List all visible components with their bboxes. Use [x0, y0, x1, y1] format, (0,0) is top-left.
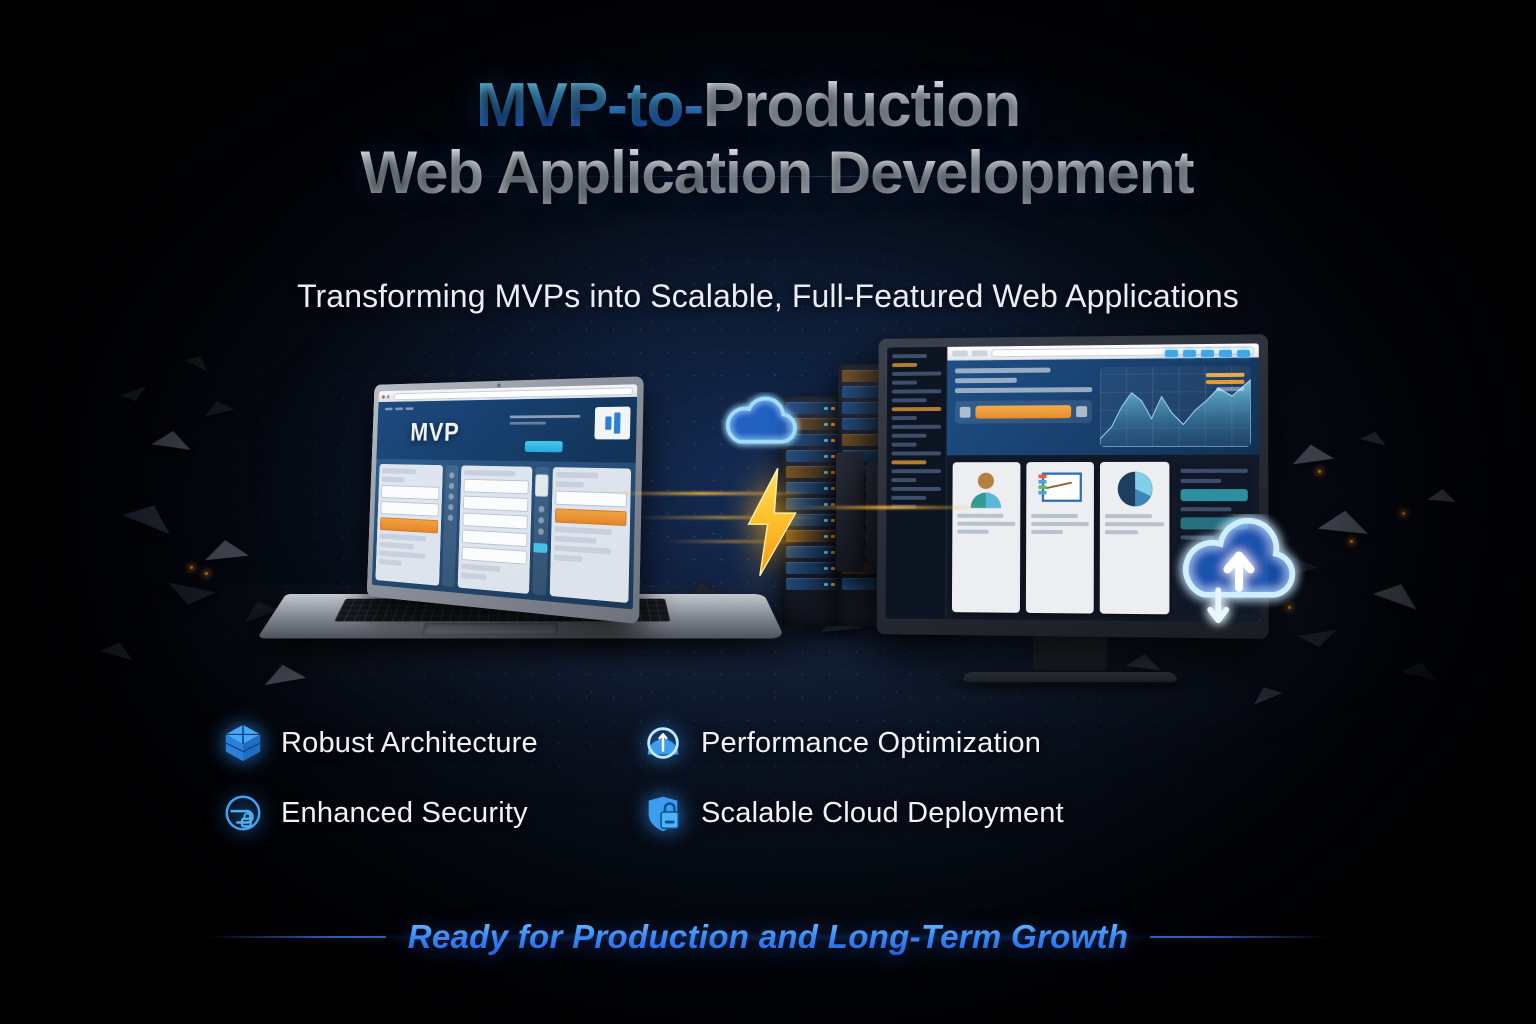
laptop-icon-rail[interactable] — [442, 465, 458, 587]
shield-lock-outline-icon — [222, 792, 264, 834]
dashboard-primary-button[interactable] — [975, 405, 1071, 418]
title-rest: Production — [703, 71, 1020, 140]
lightning-bolt-icon — [734, 466, 808, 578]
panel-icon — [1076, 406, 1087, 417]
browser-dot-icon — [387, 395, 390, 398]
laptop-card-column[interactable] — [375, 464, 443, 586]
feature-item-performance-optimization[interactable]: Performance Optimization — [642, 722, 1222, 764]
laptop-webcam-icon — [497, 384, 500, 388]
server-tower — [836, 452, 864, 572]
laptop-nav[interactable] — [385, 404, 628, 411]
feature-list: Robust Architecture Performance Optimiza… — [222, 722, 1222, 834]
chart-legend-item — [1216, 387, 1245, 391]
laptop-device: MVP — [286, 372, 771, 682]
shield-lock-filled-icon — [642, 792, 684, 834]
poster-canvas: MVP-to-Production Web Application Develo… — [0, 0, 1536, 1024]
title-accent: MVP-to- — [476, 71, 703, 140]
feature-label: Performance Optimization — [701, 727, 1041, 760]
feature-item-enhanced-security[interactable]: Enhanced Security — [222, 792, 642, 834]
page-title: MVP-to-Production Web Application Develo… — [0, 74, 1536, 204]
subtitle: Transforming MVPs into Scalable, Full-Fe… — [0, 278, 1536, 315]
dashboard-sidebar[interactable] — [886, 347, 948, 619]
dashboard-area-chart — [1100, 366, 1251, 447]
monitor-stand-neck — [1033, 632, 1107, 670]
browser-dot-icon — [382, 395, 385, 398]
laptop-cta-button[interactable] — [525, 441, 563, 452]
panel-icon — [960, 407, 971, 418]
dashboard-hero — [947, 358, 1259, 456]
browser-tab[interactable] — [952, 350, 968, 356]
chart-legend-item — [1206, 373, 1245, 377]
laptop-headline: MVP — [410, 418, 460, 448]
dashboard-hero-copy — [955, 367, 1093, 447]
dashboard-card[interactable] — [1026, 462, 1095, 614]
monitor-stand-base — [961, 672, 1178, 682]
laptop-hero-copy — [509, 415, 580, 428]
dashboard-card[interactable] — [952, 462, 1020, 613]
title-line-2: Web Application Development — [18, 142, 1536, 204]
presentation-icon — [1031, 468, 1089, 510]
footer-rule-left — [206, 936, 386, 938]
laptop-card-column[interactable] — [458, 465, 532, 593]
dashboard-action-panel[interactable] — [955, 400, 1092, 424]
dashboard-card[interactable] — [1100, 462, 1169, 615]
laptop-icon-rail[interactable] — [532, 467, 549, 596]
pie-chart-icon — [1105, 468, 1164, 510]
browser-tab[interactable] — [972, 350, 988, 356]
laptop-hero-section: MVP — [376, 397, 637, 463]
laptop-lid: MVP — [367, 376, 644, 624]
feature-label: Robust Architecture — [281, 727, 538, 760]
avatar-icon — [957, 468, 1015, 510]
laptop-card-column[interactable] — [549, 467, 631, 603]
laptop-content-columns — [372, 459, 636, 610]
feature-label: Scalable Cloud Deployment — [701, 797, 1064, 830]
monitor-status-leds — [1165, 350, 1250, 357]
feature-item-scalable-cloud-deployment[interactable]: Scalable Cloud Deployment — [642, 792, 1222, 834]
feature-label: Enhanced Security — [281, 797, 528, 830]
cube-icon — [222, 722, 264, 764]
laptop-logo-card — [594, 407, 630, 440]
feature-item-robust-architecture[interactable]: Robust Architecture — [222, 722, 642, 764]
laptop-trackpad — [422, 623, 558, 634]
laptop-screen: MVP — [372, 384, 638, 609]
neon-cloud-icon — [718, 392, 804, 452]
energy-streak — [800, 506, 990, 509]
footer-banner: Ready for Production and Long-Term Growt… — [0, 906, 1536, 968]
footer-rule-right — [1150, 936, 1330, 938]
cloud-upload-sync-icon — [1168, 514, 1310, 634]
footer-text: Ready for Production and Long-Term Growt… — [408, 918, 1129, 956]
chart-legend-item — [1206, 380, 1245, 384]
gauge-icon — [642, 722, 684, 764]
